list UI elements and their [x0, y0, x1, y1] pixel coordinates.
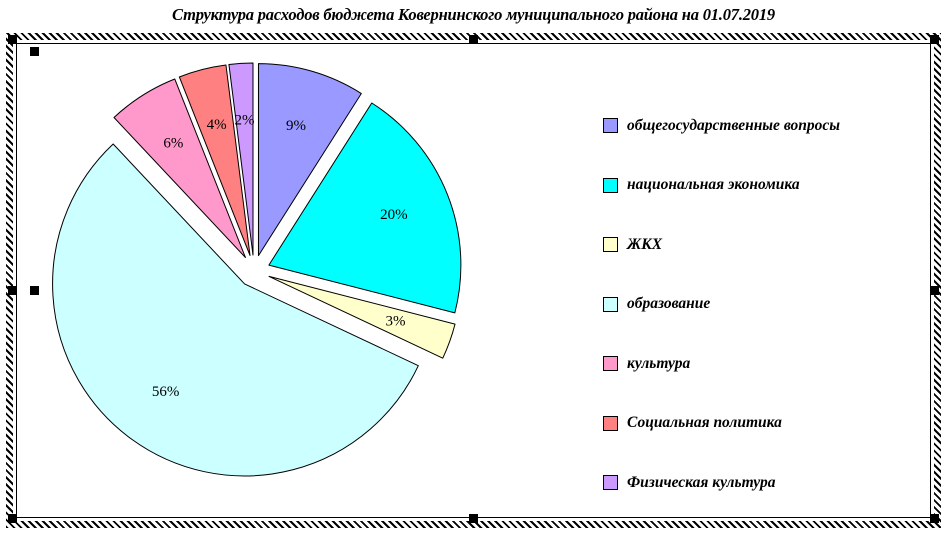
chart-canvas: Структура расходов бюджета Ковернинского… — [0, 0, 947, 540]
resize-handle-middle-right[interactable] — [930, 286, 939, 295]
legend-item-5[interactable]: Социальная политика — [603, 394, 933, 454]
resize-handle-inner-middle-left[interactable] — [30, 286, 39, 295]
legend-item-2[interactable]: ЖКХ — [603, 215, 933, 275]
resize-handle-bottom-right[interactable] — [930, 514, 939, 523]
legend-swatch-icon-2 — [603, 237, 618, 252]
legend-swatch-icon-3 — [603, 297, 618, 312]
legend-item-3[interactable]: образование — [603, 275, 933, 335]
resize-handle-top-center[interactable] — [469, 35, 478, 44]
pie-slice-label: 20% — [380, 207, 408, 223]
legend-swatch-icon-4 — [603, 356, 618, 371]
pie-slice-label: 9% — [286, 118, 306, 134]
legend-label-4: культура — [627, 355, 690, 373]
pie-svg: 9%20%3%56%6%4%2% — [16, 43, 596, 518]
pie-slice-label: 4% — [207, 117, 227, 133]
chart-legend: общегосударственные вопросы национальная… — [603, 96, 933, 513]
legend-item-1[interactable]: национальная экономика — [603, 156, 933, 216]
resize-handle-bottom-center[interactable] — [469, 514, 478, 523]
legend-item-6[interactable]: Физическая культура — [603, 453, 933, 513]
pie-slice-label: 3% — [386, 313, 406, 329]
legend-label-6: Физическая культура — [627, 474, 775, 492]
pie-slice-label: 56% — [152, 384, 180, 400]
pie-slice-label: 2% — [235, 112, 255, 128]
legend-label-1: национальная экономика — [627, 176, 800, 194]
legend-swatch-icon-5 — [603, 416, 618, 431]
resize-handle-inner-top-left[interactable] — [30, 47, 39, 56]
legend-label-0: общегосударственные вопросы — [627, 117, 840, 135]
legend-swatch-icon-6 — [603, 475, 618, 490]
pie-slice-label: 6% — [163, 135, 183, 151]
resize-handle-middle-left[interactable] — [8, 286, 17, 295]
legend-swatch-icon-1 — [603, 178, 618, 193]
legend-item-0[interactable]: общегосударственные вопросы — [603, 96, 933, 156]
legend-label-3: образование — [627, 295, 710, 313]
pie-slices[interactable] — [53, 63, 461, 476]
chart-title: Структура расходов бюджета Ковернинского… — [0, 2, 947, 28]
legend-swatch-icon-0 — [603, 118, 618, 133]
legend-label-5: Социальная политика — [627, 414, 782, 432]
legend-item-4[interactable]: культура — [603, 334, 933, 394]
resize-handle-bottom-left[interactable] — [8, 514, 17, 523]
resize-handle-top-right[interactable] — [930, 35, 939, 44]
resize-handle-top-left[interactable] — [8, 35, 17, 44]
pie-chart[interactable]: 9%20%3%56%6%4%2% — [16, 43, 596, 518]
legend-label-2: ЖКХ — [627, 236, 662, 254]
